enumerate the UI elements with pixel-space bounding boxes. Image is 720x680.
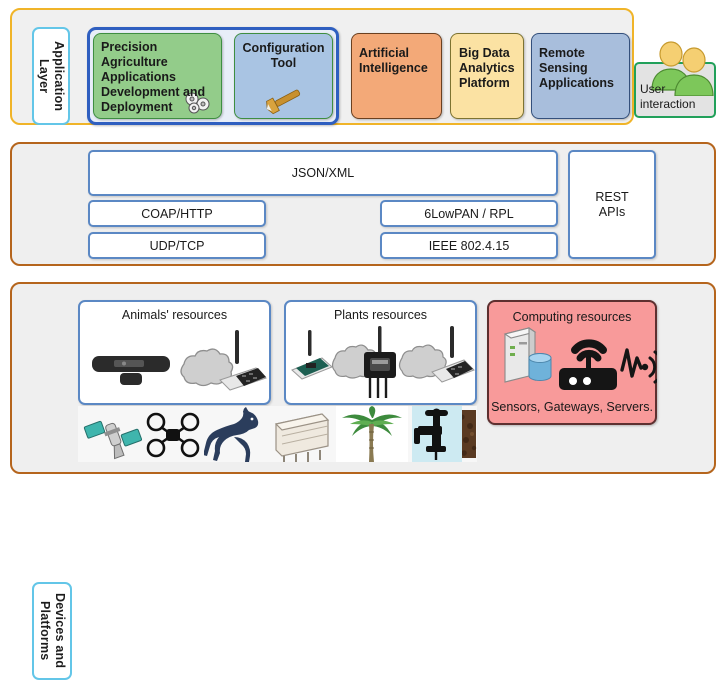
plants-resources-box[interactable]: Plants resources (284, 300, 477, 405)
wrench-icon (263, 85, 305, 115)
camera-icon (92, 356, 170, 385)
plants-resources-title: Plants resources (286, 308, 475, 322)
antenna-board-icon (292, 330, 332, 379)
beehive-icon (268, 406, 334, 462)
card-precision-agriculture-label: Precision Agriculture Applications Devel… (101, 40, 215, 115)
server-icon (505, 328, 551, 382)
card-artificial-intelligence[interactable]: Artificial Intelligence (351, 33, 442, 119)
horse-icon (204, 406, 266, 462)
computing-resources-box[interactable]: Computing resources Sensors, Gateways, S… (487, 300, 657, 425)
water-tap-icon (412, 406, 462, 462)
protocol-ieee-802-4-15[interactable]: IEEE 802.4.15 (380, 232, 558, 259)
plants-device-icons (286, 326, 475, 404)
satellite-icon (82, 406, 142, 462)
protocol-6lowpan-rpl-label: 6LowPAN / RPL (424, 207, 513, 221)
computing-device-icons (491, 324, 657, 398)
user-interaction-label: User interaction (640, 82, 718, 112)
sensor-module-icon (364, 326, 396, 398)
drone-icon (144, 406, 202, 462)
animals-resources-title: Animals' resources (80, 308, 269, 322)
animals-resources-box[interactable]: Animals' resources (78, 300, 271, 405)
card-remote-sensing-label: Remote Sensing Applications (539, 46, 624, 91)
computing-resources-subtitle: Sensors, Gateways, Servers. (489, 400, 655, 414)
protocol-rest-apis-label: REST APIs (595, 190, 628, 220)
protocol-udp-tcp-label: UDP/TCP (150, 239, 205, 253)
protocol-json-xml-label: JSON/XML (292, 166, 355, 180)
devices-layer-label-text: Devices and Platforms (37, 593, 67, 668)
application-layer-label-text: Application Layer (36, 41, 66, 111)
card-precision-agriculture[interactable]: Precision Agriculture Applications Devel… (93, 33, 222, 119)
card-big-data-analytics[interactable]: Big Data Analytics Platform (450, 33, 524, 119)
card-artificial-intelligence-label: Artificial Intelligence (359, 46, 435, 76)
devices-layer-label: Devices and Platforms (32, 582, 72, 680)
user-interaction-box[interactable]: User interaction (634, 62, 716, 118)
animals-device-icons (80, 330, 269, 402)
application-layer: Application Layer Precision Agriculture … (10, 8, 634, 125)
protocol-json-xml[interactable]: JSON/XML (88, 150, 558, 196)
router-wifi-icon (559, 343, 617, 390)
card-remote-sensing[interactable]: Remote Sensing Applications (531, 33, 630, 119)
computing-resources-title: Computing resources (489, 310, 655, 324)
palm-tree-icon (336, 406, 408, 462)
card-configuration-tool[interactable]: Configuration Tool (234, 33, 333, 119)
protocol-udp-tcp[interactable]: UDP/TCP (88, 232, 266, 259)
protocol-coap-http-label: COAP/HTTP (141, 207, 213, 221)
protocol-ieee-802-4-15-label: IEEE 802.4.15 (429, 239, 510, 253)
card-big-data-analytics-label: Big Data Analytics Platform (459, 46, 517, 91)
signal-wave-icon (622, 350, 657, 382)
protocol-6lowpan-rpl[interactable]: 6LowPAN / RPL (380, 200, 558, 227)
protocol-rest-apis[interactable]: REST APIs (568, 150, 656, 259)
protocol-coap-http[interactable]: COAP/HTTP (88, 200, 266, 227)
application-layer-label: Application Layer (32, 27, 70, 125)
card-configuration-tool-label: Configuration Tool (243, 41, 325, 71)
